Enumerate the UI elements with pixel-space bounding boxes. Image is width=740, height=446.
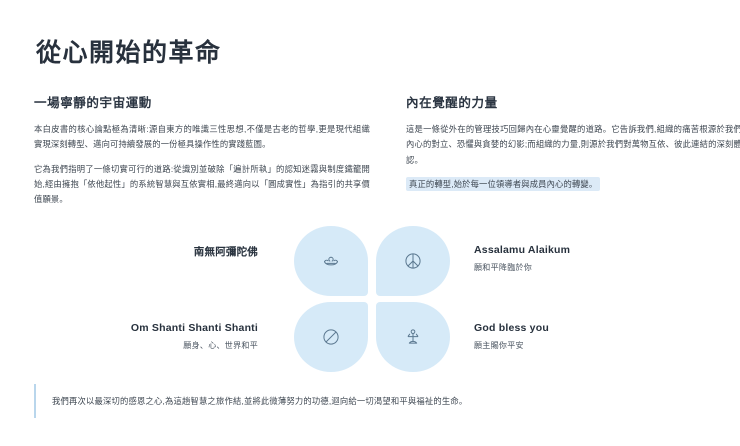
- column-right-highlight-paragraph: 真正的轉型,始於每一位領導者與成員內心的轉變。: [406, 177, 740, 192]
- column-right-heading: 內在覺醒的力量: [406, 92, 740, 111]
- peace-symbol-icon: [403, 251, 423, 271]
- slide-root: 從心開始的革命 一場寧靜的宇宙運動 本白皮書的核心論點極為清晰:源自東方的唯識三…: [0, 0, 740, 446]
- column-left-paragraph-1: 本白皮書的核心論點極為清晰:源自東方的唯識三性思想,不僅是古老的哲學,更是現代組…: [34, 122, 370, 153]
- highlighted-sentence: 真正的轉型,始於每一位領導者與成員內心的轉變。: [406, 177, 600, 191]
- petal-bottom-left[interactable]: [294, 302, 368, 372]
- diagram-label-subtitle: 願身、心、世界和平: [48, 340, 258, 351]
- footer-note-text: 我們再次以最深切的感恩之心,為這趟智慧之旅作結,並將此微薄努力的功德,迴向給一切…: [52, 394, 706, 408]
- diagram-label-christian: God bless you 願主賜你平安: [474, 322, 684, 351]
- diagram-label-subtitle: 願主賜你平安: [474, 340, 684, 351]
- diagram-label-subtitle: 願和平降臨於你: [474, 262, 684, 273]
- column-left: 一場寧靜的宇宙運動 本白皮書的核心論點極為清晰:源自東方的唯識三性思想,不僅是古…: [34, 92, 370, 208]
- page-title: 從心開始的革命: [36, 38, 710, 68]
- blessings-diagram: 南無阿彌陀佛 Assalamu Alaikum 願和平降臨於你 Om Shant…: [34, 222, 710, 372]
- footer-note: 我們再次以最深切的感恩之心,為這趟智慧之旅作結,並將此微薄努力的功德,迴向給一切…: [34, 384, 706, 418]
- petal-bottom-right[interactable]: [376, 302, 450, 372]
- diagram-label-hindu: Om Shanti Shanti Shanti 願身、心、世界和平: [48, 322, 258, 351]
- diagram-label-buddhist: 南無阿彌陀佛: [48, 244, 258, 259]
- diagram-label-title: 南無阿彌陀佛: [48, 244, 258, 259]
- column-left-paragraph-2: 它為我們指明了一條切實可行的道路:從識別並破除「遍計所執」的認知迷霧與制度鐵籠開…: [34, 162, 370, 208]
- cross-blessing-icon: [403, 327, 423, 347]
- petal-top-left[interactable]: [294, 226, 368, 296]
- two-column-body: 一場寧靜的宇宙運動 本白皮書的核心論點極為清晰:源自東方的唯識三性思想,不僅是古…: [34, 92, 710, 208]
- diagram-label-title: God bless you: [474, 322, 684, 334]
- diagram-label-title: Assalamu Alaikum: [474, 244, 684, 256]
- no-harm-circle-slash-icon: [321, 327, 341, 347]
- column-left-heading: 一場寧靜的宇宙運動: [34, 92, 370, 111]
- column-right-paragraph-1: 這是一條從外在的管理技巧回歸內在心靈覺醒的道路。它告訴我們,組織的痛苦根源於我們…: [406, 122, 740, 168]
- four-petal-flower: [294, 226, 450, 372]
- lotus-icon: [321, 251, 341, 271]
- diagram-label-title: Om Shanti Shanti Shanti: [48, 322, 258, 334]
- diagram-label-islamic: Assalamu Alaikum 願和平降臨於你: [474, 244, 684, 273]
- column-right: 內在覺醒的力量 這是一條從外在的管理技巧回歸內在心靈覺醒的道路。它告訴我們,組織…: [406, 92, 740, 208]
- petal-top-right[interactable]: [376, 226, 450, 296]
